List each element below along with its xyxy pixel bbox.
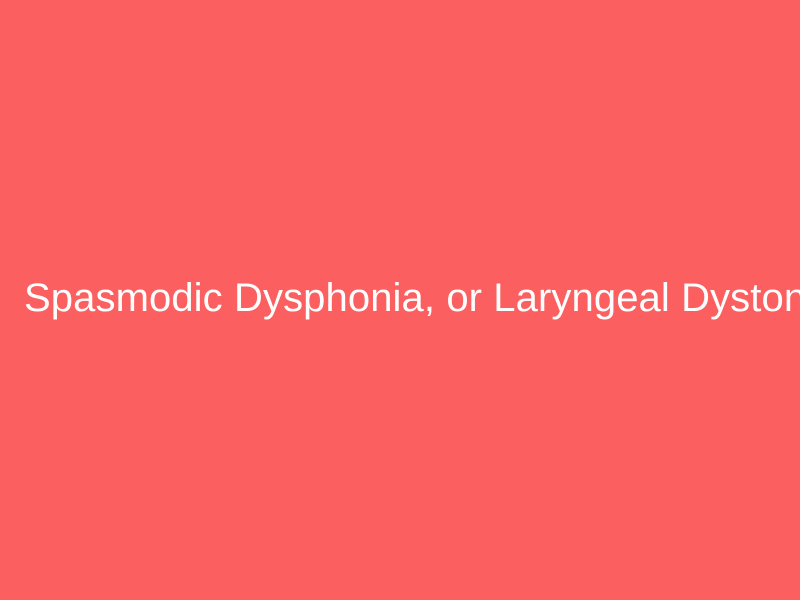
page-title: Spasmodic Dysphonia, or Laryngeal Dyston… [0,274,800,322]
banner-canvas: Spasmodic Dysphonia, or Laryngeal Dyston… [0,0,800,600]
